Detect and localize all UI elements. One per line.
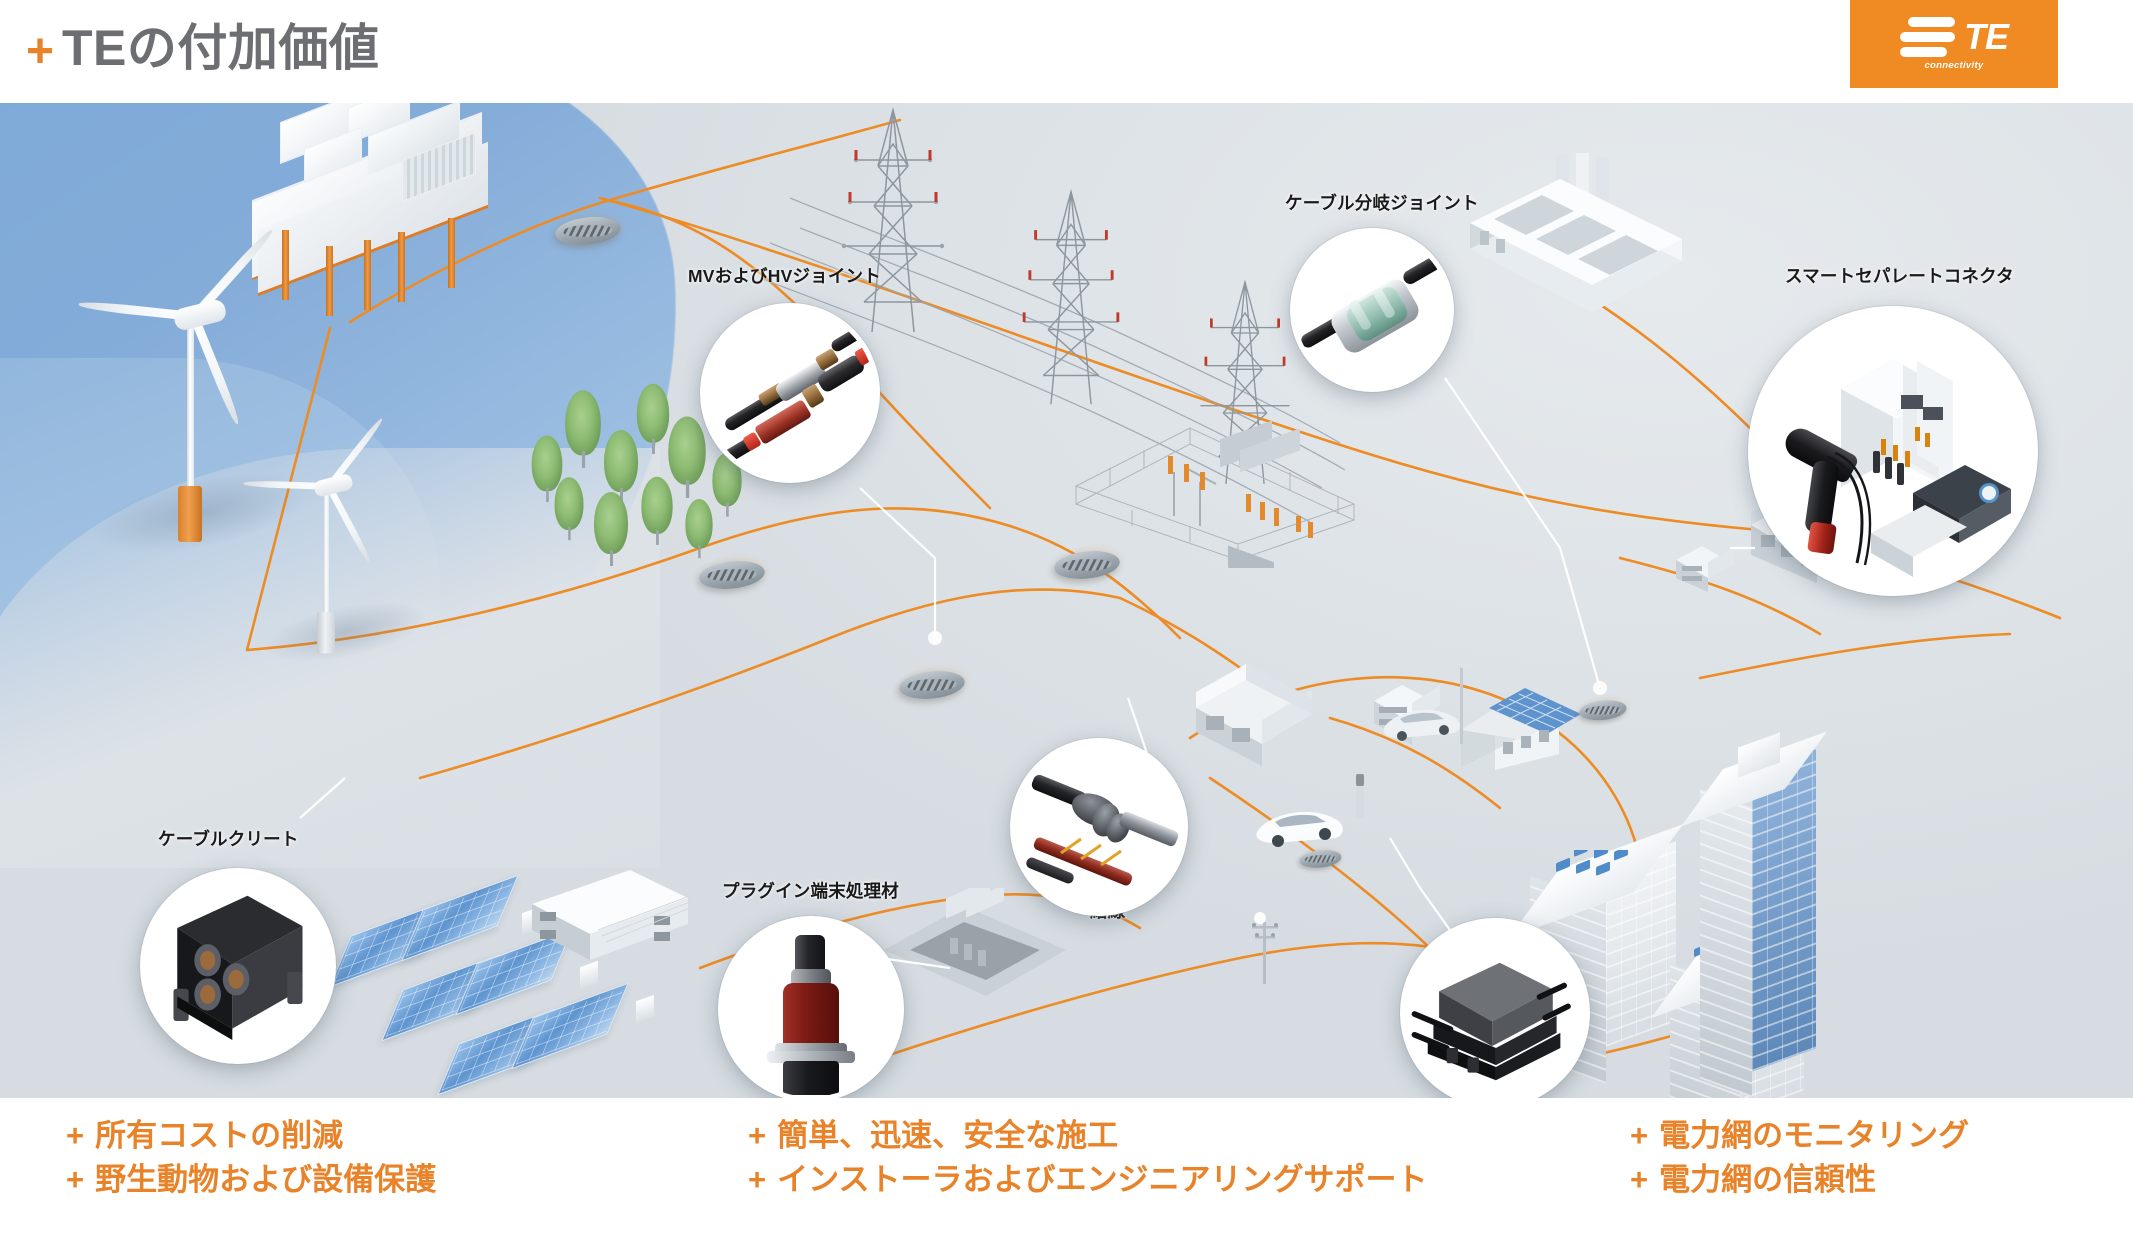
te-logo-wordmark: TE — [1964, 19, 2008, 55]
callout-leader-lines — [0, 78, 2133, 1098]
bullet-plus-icon: + — [1630, 1114, 1648, 1158]
benefit-text: 電力網の信頼性 — [1659, 1158, 1876, 1202]
benefit-text: 電力網のモニタリング — [1659, 1114, 1969, 1158]
benefit-text: インストーラおよびエンジニアリングサポート — [777, 1158, 1427, 1202]
te-logo-bars-icon — [1900, 17, 1955, 57]
benefit-text: 野生動物および設備保護 — [95, 1158, 436, 1202]
benefit-text: 所有コストの削減 — [95, 1114, 343, 1158]
benefit-item: + 電力網のモニタリング — [1630, 1114, 1969, 1158]
title-plus-icon: + — [26, 28, 54, 76]
bullet-plus-icon: + — [1630, 1158, 1648, 1202]
benefit-item: + 野生動物および設備保護 — [66, 1158, 436, 1202]
slide-header: + TEの付加価値 TE connectivity — [0, 0, 2133, 103]
benefit-item: + インストーラおよびエンジニアリングサポート — [748, 1158, 1428, 1202]
benefit-column-1: + 所有コストの削減 + 野生動物および設備保護 — [66, 1114, 436, 1202]
te-logo-tagline: connectivity — [1924, 60, 1983, 71]
te-connectivity-logo: TE connectivity — [1850, 0, 2058, 88]
benefit-column-2: + 簡単、迅速、安全な施工 + インストーラおよびエンジニアリングサポート — [748, 1114, 1428, 1202]
bullet-plus-icon: + — [66, 1114, 84, 1158]
slide-root: + TEの付加価値 TE connectivity — [0, 0, 2133, 1250]
bullet-plus-icon: + — [748, 1114, 766, 1158]
page-title: TEの付加価値 — [62, 18, 379, 78]
bullet-plus-icon: + — [748, 1158, 766, 1202]
energy-grid-illustration: MVおよびHVジョイント ケーブル分岐ジョイント — [0, 78, 2133, 1098]
benefit-text: 簡単、迅速、安全な施工 — [777, 1114, 1118, 1158]
benefit-item: + 電力網の信頼性 — [1630, 1158, 1969, 1202]
benefit-item: + 所有コストの削減 — [66, 1114, 436, 1158]
bullet-plus-icon: + — [66, 1158, 84, 1202]
benefit-item: + 簡単、迅速、安全な施工 — [748, 1114, 1428, 1158]
benefits-footer: + 所有コストの削減 + 野生動物および設備保護 + 簡単、迅速、安全な施工 +… — [0, 1098, 2133, 1250]
benefit-column-3: + 電力網のモニタリング + 電力網の信頼性 — [1630, 1114, 1969, 1202]
